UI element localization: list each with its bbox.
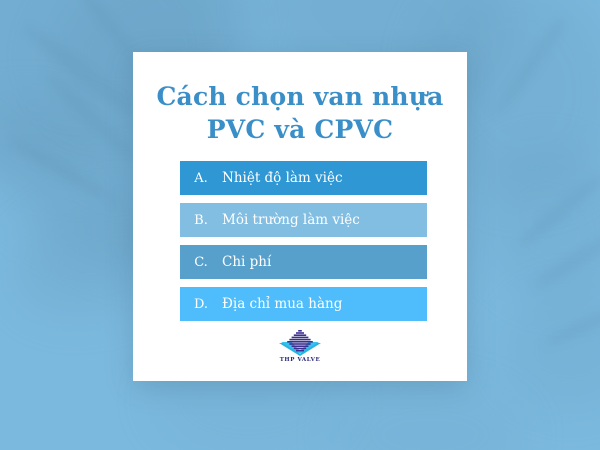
answer-option-b-letter: B. [180, 213, 222, 228]
leaf-stroke [514, 171, 600, 252]
leaf-stroke [490, 14, 570, 120]
answer-option-a-label: Nhiệt độ làm việc [222, 170, 427, 186]
leaf-stroke [5, 133, 125, 210]
screenshot-stage: Cách chọn van nhựa PVC và CPVC A. Nhiệt … [0, 0, 600, 450]
answer-option-b[interactable]: B. Môi trường làm việc [180, 203, 427, 237]
brand-logo-text: THP VALVE [280, 358, 321, 364]
answer-option-d-letter: D. [180, 297, 222, 312]
answer-option-b-label: Môi trường làm việc [222, 212, 427, 228]
answer-option-a-letter: A. [180, 171, 222, 186]
page-title-line-1: Cách chọn van nhựa [151, 80, 449, 113]
page-title-line-2: PVC và CPVC [151, 113, 449, 146]
leaf-stroke [542, 301, 600, 349]
brand-logo: THP VALVE [133, 328, 467, 364]
shadow-blob [500, 290, 600, 410]
shadow-blob [330, 380, 530, 450]
answer-option-c[interactable]: C. Chi phí [180, 245, 427, 279]
answer-option-d[interactable]: D. Địa chỉ mua hàng [180, 287, 427, 321]
answer-option-list: A. Nhiệt độ làm việc B. Môi trường làm v… [180, 161, 427, 329]
answer-option-c-label: Chi phí [222, 254, 427, 270]
leaf-stroke [18, 19, 138, 118]
quiz-card: Cách chọn van nhựa PVC và CPVC A. Nhiệt … [133, 52, 467, 381]
leaf-stroke [529, 229, 600, 292]
thp-valve-logo-icon [277, 328, 323, 357]
answer-option-c-letter: C. [180, 255, 222, 270]
answer-option-a[interactable]: A. Nhiệt độ làm việc [180, 161, 427, 195]
leaf-stroke [42, 70, 137, 163]
answer-option-d-label: Địa chỉ mua hàng [222, 296, 427, 312]
page-title: Cách chọn van nhựa PVC và CPVC [133, 52, 467, 146]
